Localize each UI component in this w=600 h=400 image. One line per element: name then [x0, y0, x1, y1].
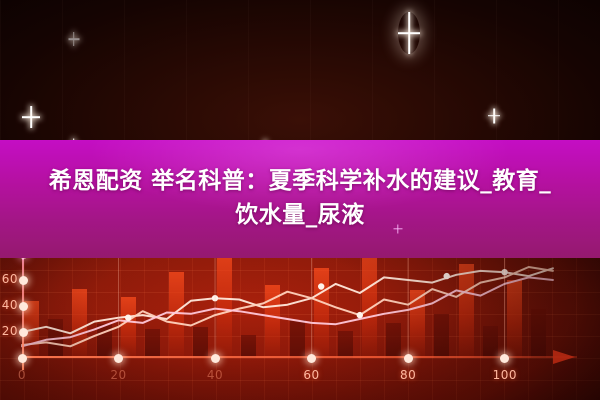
x-tick-dot	[307, 354, 316, 363]
poster: 020406080100 20406080100 希恩配资 举名科普：夏季科学补…	[0, 0, 600, 400]
y-tick-dot	[19, 302, 28, 311]
x-tick-label: 0	[10, 368, 34, 382]
y-tick-label: 40	[0, 298, 18, 312]
x-tick-dot	[500, 354, 509, 363]
x-tick-label: 60	[300, 368, 324, 382]
x-axis-arrow-icon	[553, 350, 575, 364]
x-tick-dot	[114, 354, 123, 363]
x-tick-label: 40	[203, 368, 227, 382]
x-tick-dot	[18, 354, 27, 363]
chart: 020406080100	[0, 248, 600, 400]
page-title-line-1: 希恩配资 举名科普：夏季科学补水的建议_教育_	[0, 164, 600, 198]
y-tick-label: 60	[0, 272, 18, 286]
x-tick-dot	[211, 354, 220, 363]
y-tick-dot	[19, 328, 28, 337]
sky-stripe-overlay	[0, 0, 600, 150]
y-tick-dot	[19, 276, 28, 285]
x-axis-line	[22, 356, 577, 358]
y-tick-label: 20	[0, 324, 18, 338]
x-tick-label: 20	[107, 368, 131, 382]
x-tick-label: 80	[396, 368, 420, 382]
x-tick-dot	[404, 354, 413, 363]
x-tick-label: 100	[493, 368, 517, 382]
page-title-line-2: 饮水量_尿液	[0, 198, 600, 232]
page-title: 希恩配资 举名科普：夏季科学补水的建议_教育_ 饮水量_尿液	[0, 164, 600, 232]
